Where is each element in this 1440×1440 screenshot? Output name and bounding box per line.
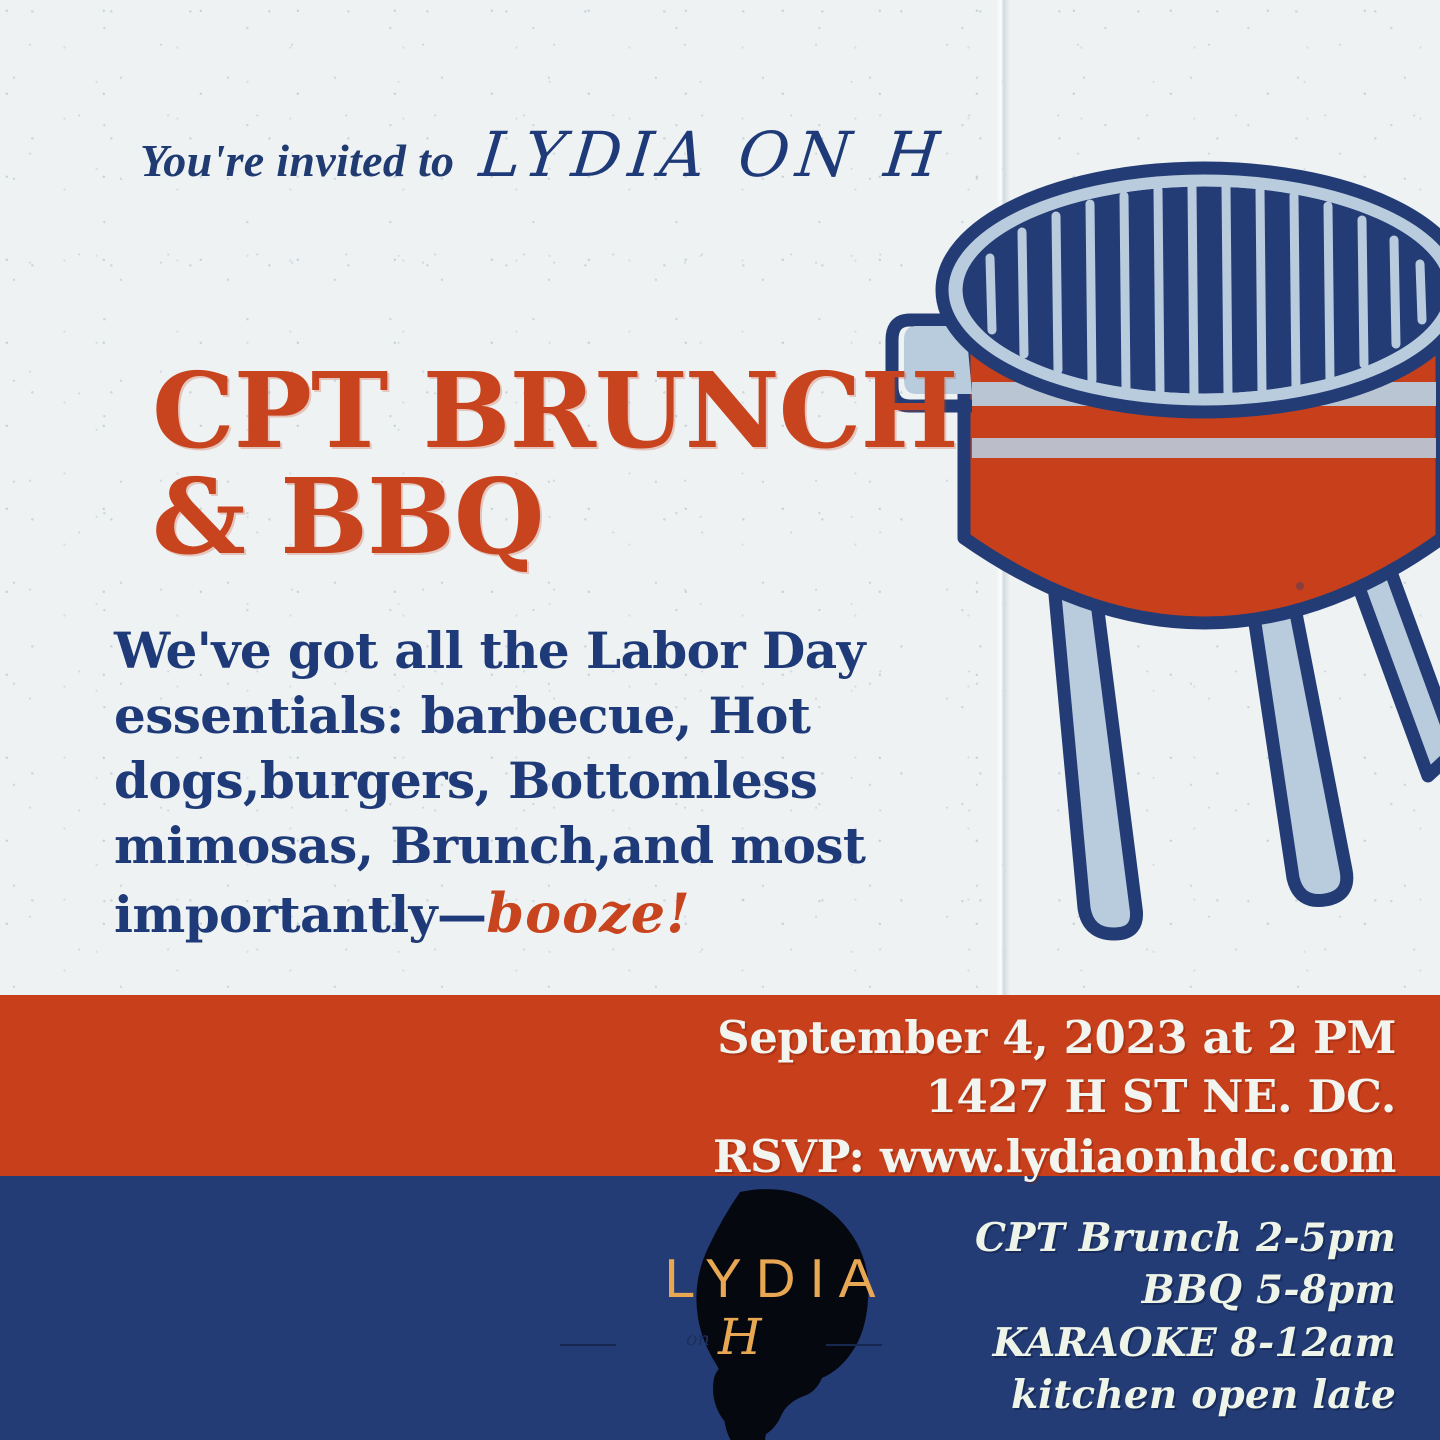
woman-silhouette-icon	[632, 1186, 918, 1440]
logo-wordmark: LYDIA	[560, 1246, 980, 1310]
charcoal-grill-illustration	[880, 0, 1440, 1010]
logo-rule-left	[560, 1344, 616, 1346]
logo-street-letter: H	[718, 1308, 762, 1366]
logo-rule-right	[826, 1344, 882, 1346]
headline-line-2: & BBQ	[152, 464, 958, 570]
schedule-item-kitchen: kitchen open late	[975, 1369, 1396, 1421]
schedule-item-karaoke: KARAOKE 8-12am	[975, 1317, 1396, 1369]
rsvp-link[interactable]: RSVP: www.lydiaonhdc.com	[713, 1127, 1396, 1186]
booze-accent-text: booze!	[486, 881, 691, 945]
schedule-list: CPT Brunch 2-5pm BBQ 5-8pm KARAOKE 8-12a…	[975, 1212, 1396, 1421]
headline-line-1: CPT BRUNCH	[152, 349, 958, 472]
lydia-logo: LYDIA on H	[560, 1186, 980, 1440]
flyer-canvas: You're invited to LYDIA ON H CPT BRUNCH …	[0, 0, 1440, 1440]
event-address: 1427 H ST NE. DC.	[713, 1067, 1396, 1126]
page-title: CPT BRUNCH & BBQ	[152, 358, 958, 570]
venue-script-wordmark: LYDIA ON H	[476, 118, 949, 191]
event-date: September 4, 2023 at 2 PM	[713, 1008, 1396, 1067]
schedule-item-bbq: BBQ 5-8pm	[975, 1264, 1396, 1316]
logo-on-text: on	[686, 1328, 710, 1350]
invitation-prefix: You're invited to	[140, 134, 454, 187]
description-paragraph: We've got all the Labor Day essentials: …	[114, 618, 874, 948]
schedule-item-brunch: CPT Brunch 2-5pm	[975, 1212, 1396, 1264]
event-details: September 4, 2023 at 2 PM 1427 H ST NE. …	[713, 1008, 1396, 1186]
invitation-line: You're invited to LYDIA ON H	[140, 118, 946, 191]
